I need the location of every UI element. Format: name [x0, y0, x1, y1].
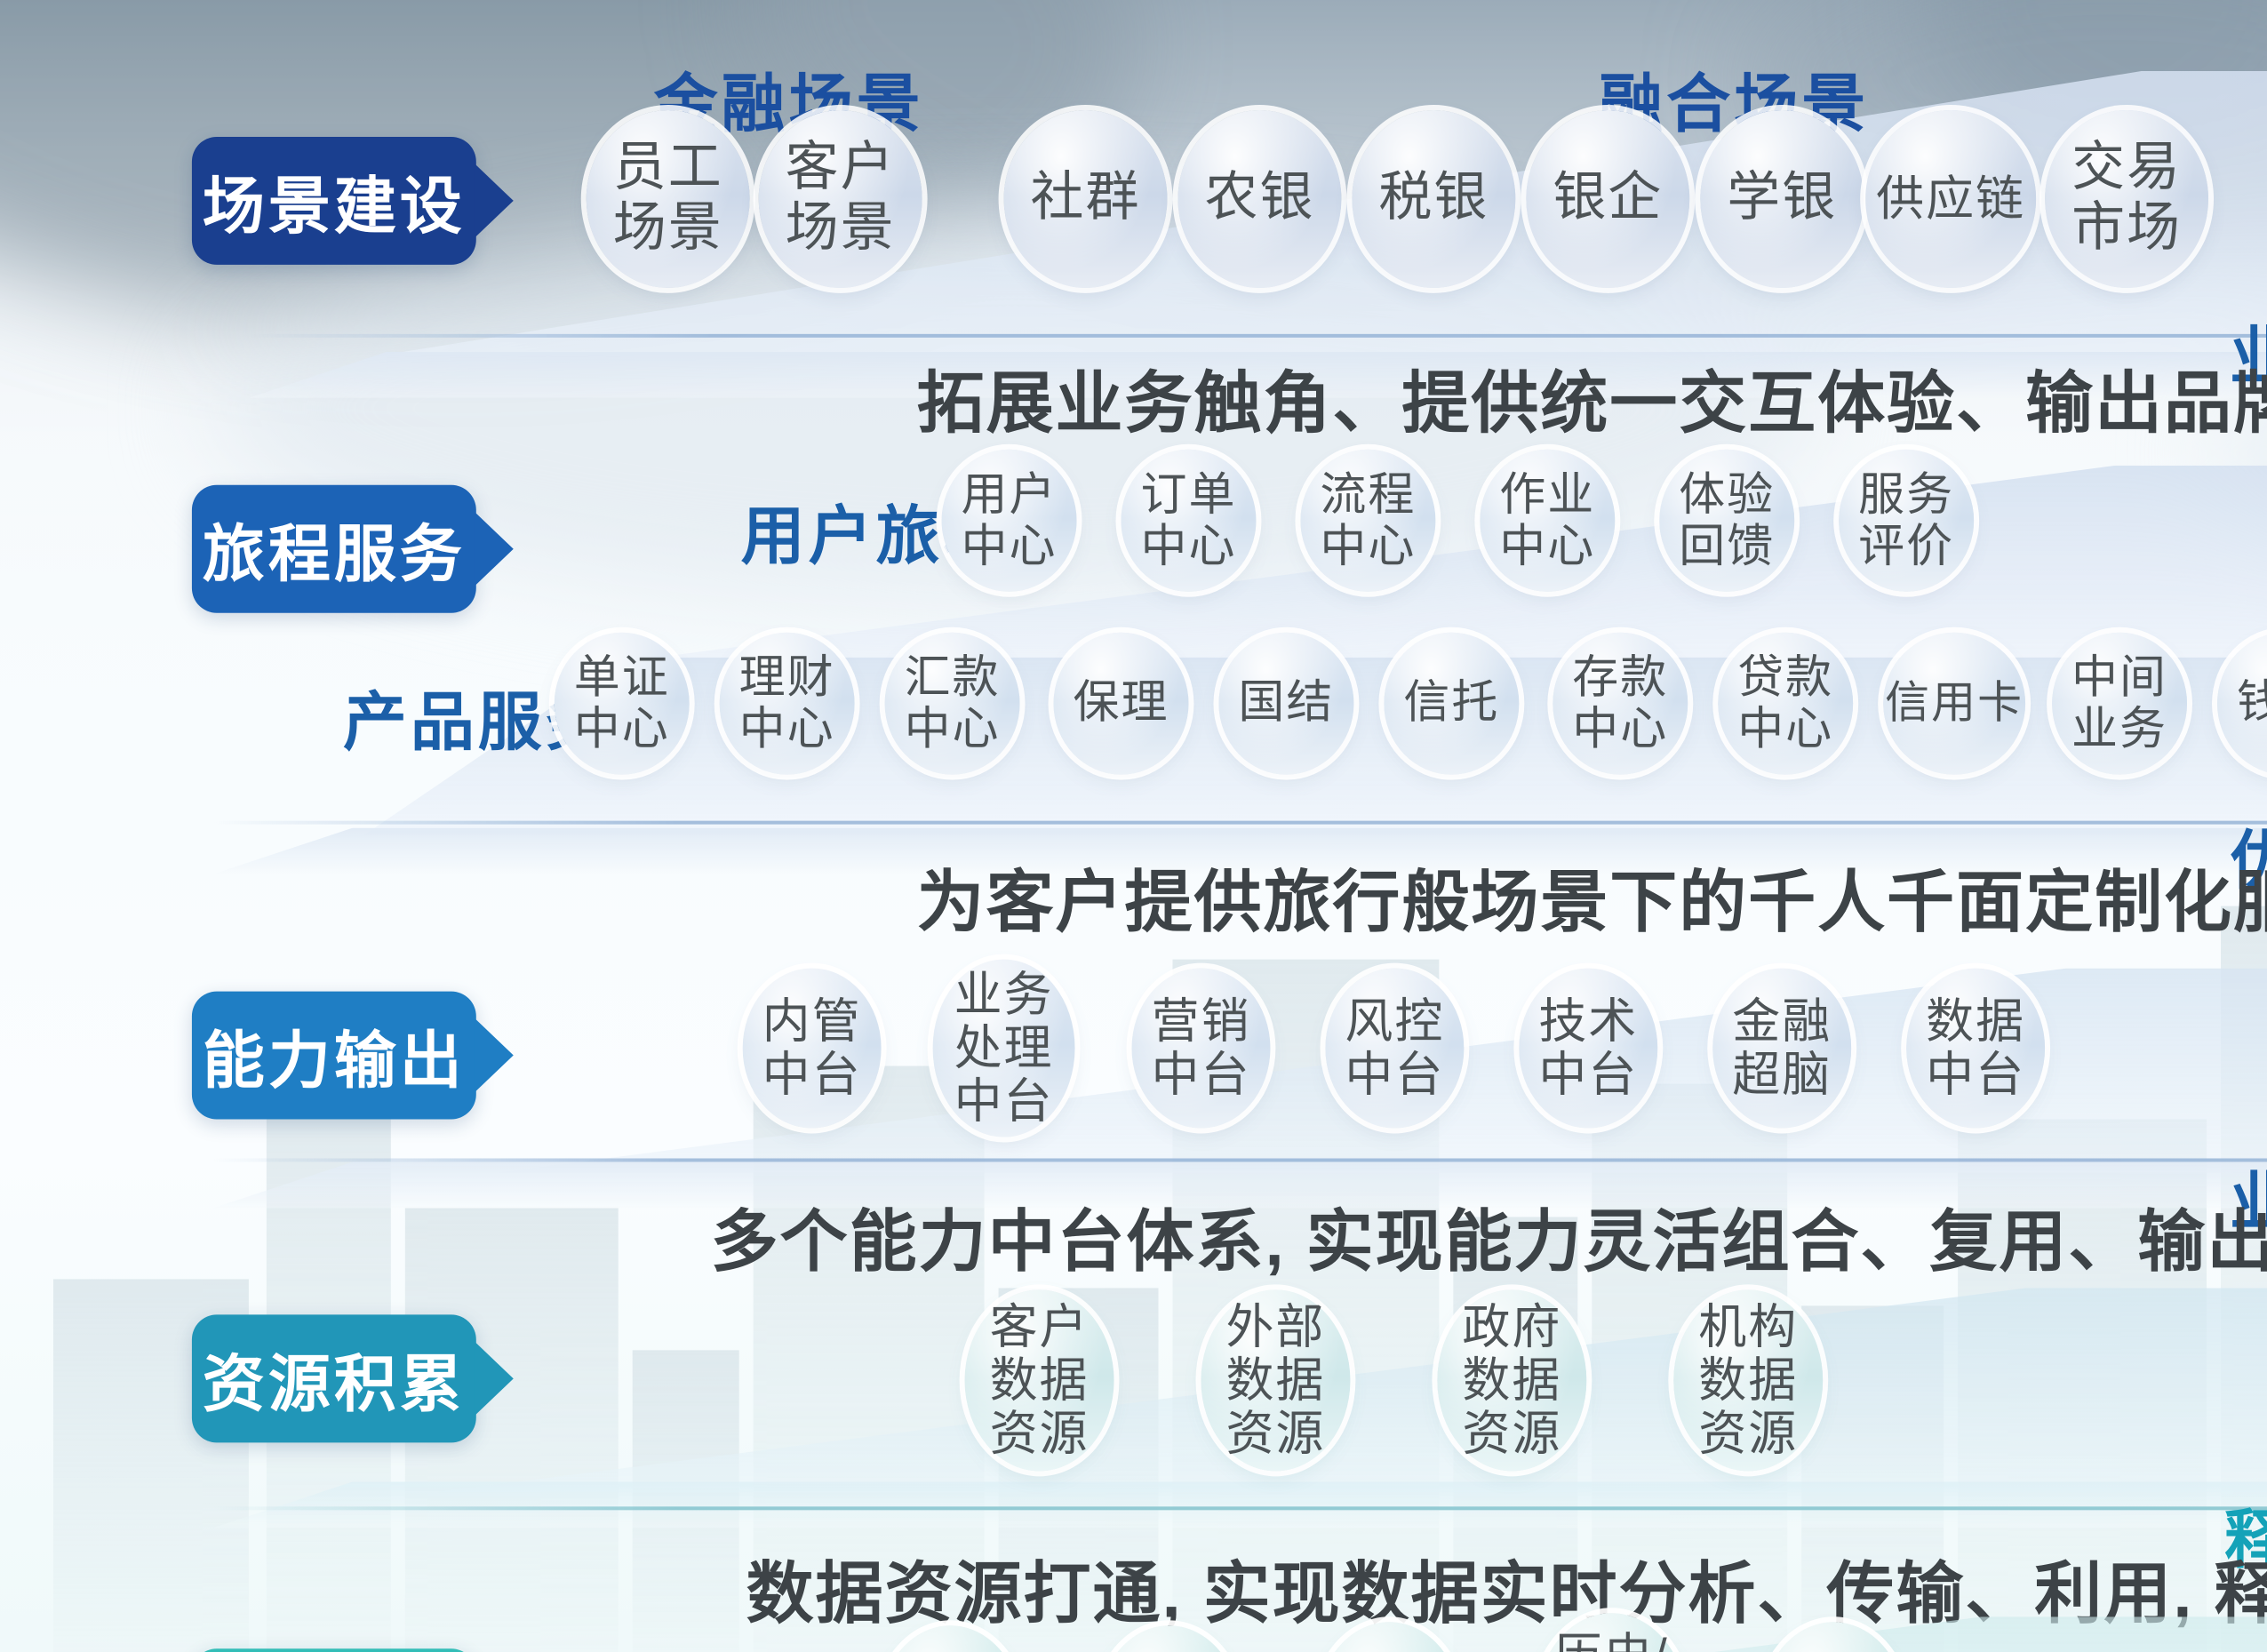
node-remittance-center[interactable]: 汇款 中心: [885, 633, 1020, 775]
band-rule-2: [213, 821, 2267, 825]
node-order-center[interactable]: 订单 中心: [1122, 450, 1257, 592]
node-line: 税银: [1378, 169, 1489, 228]
layer-chip-1-label: 场景建设: [203, 156, 466, 246]
node-line: 中台: [762, 1049, 862, 1102]
layer-chip-3-label: 能力输出: [203, 1010, 466, 1101]
node-tax-bank[interactable]: 税银: [1352, 110, 1515, 288]
node-line: 内管: [762, 994, 862, 1048]
node-line: 供应链: [1876, 172, 2025, 226]
node-line: 中心: [574, 704, 670, 755]
node-line: 金融: [1732, 994, 1832, 1048]
node-school-bank[interactable]: 学银: [1700, 110, 1864, 288]
node-customer-data-resource[interactable]: 客户 数据 资源: [965, 1289, 1114, 1471]
node-line: 政府: [1462, 1300, 1561, 1353]
node-operation-center[interactable]: 作业 中心: [1480, 450, 1615, 592]
node-community[interactable]: 社群: [1004, 110, 1168, 288]
band-rule-3: [213, 1158, 2267, 1161]
node-wallet[interactable]: 钱包: [2217, 633, 2267, 775]
node-line: 用户: [962, 469, 1058, 521]
node-line: 市场: [2071, 199, 2182, 259]
node-line: 社群: [1031, 169, 1141, 228]
node-line: 技术: [1538, 994, 1638, 1048]
node-line: 中台: [1151, 1049, 1250, 1102]
node-line: 流程: [1320, 469, 1416, 521]
node-line: 场景: [613, 199, 723, 259]
node-line: 场景: [786, 199, 896, 259]
band-rule-1: [249, 334, 2267, 338]
node-line: 数据: [1225, 1353, 1325, 1407]
layer-chip-3[interactable]: 能力输出: [192, 992, 476, 1120]
node-bank-enterprise[interactable]: 银企: [1526, 110, 1689, 288]
layer-chip-4[interactable]: 资源积累: [192, 1314, 476, 1442]
band-caption-2: 为客户提供旅行般场景下的千人千面定制化服务: [917, 848, 2267, 946]
node-line: 回馈: [1679, 521, 1775, 572]
node-line: 历史/: [1554, 1629, 1669, 1652]
chip-arrow-icon: [475, 512, 514, 587]
node-service-evaluation[interactable]: 服务 评价: [1839, 450, 1974, 592]
node-line: 中心: [739, 704, 835, 755]
node-line: 数据: [1698, 1353, 1798, 1407]
node-line: 外部: [1225, 1300, 1325, 1353]
node-trading-market[interactable]: 交易 市场: [2045, 110, 2208, 288]
node-line: 中心: [905, 704, 1001, 755]
node-customer-scene[interactable]: 客户 场景: [759, 110, 922, 288]
node-line: 业务: [2071, 704, 2167, 755]
pyramid-slab-4: [435, 1288, 2267, 1492]
node-line: 中台: [1926, 1049, 2025, 1102]
node-finance-brain[interactable]: 金融 超脑: [1712, 969, 1851, 1129]
node-internal-mgmt-platform[interactable]: 内管 中台: [743, 969, 882, 1129]
node-line: 中心: [1572, 704, 1668, 755]
layer-chip-2[interactable]: 旅程服务: [192, 485, 476, 613]
node-line: 营销: [1151, 994, 1250, 1048]
node-loan-center[interactable]: 贷款 中心: [1718, 633, 1853, 775]
band-caption-1: 拓展业务触角、提供统一交互体验、输出品牌形象: [917, 348, 2267, 446]
band-caption-4: 数据资源打通, 实现数据实时分析、传输、利用, 释放数据业务价值: [746, 1538, 2267, 1636]
node-external-data-resource[interactable]: 外部 数据 资源: [1201, 1289, 1350, 1471]
node-line: 员工: [613, 140, 723, 199]
node-line: 银企: [1553, 169, 1663, 228]
node-intermediary-business[interactable]: 中间 业务: [2052, 633, 2187, 775]
node-agri-bank[interactable]: 农银: [1177, 110, 1341, 288]
node-line: 中心: [1320, 521, 1416, 572]
node-line: 机构: [1698, 1300, 1798, 1353]
node-deposit-center[interactable]: 存款 中心: [1553, 633, 1688, 775]
node-line: 风控: [1345, 994, 1444, 1048]
layer-chip-5[interactable]: 组织管理: [192, 1648, 476, 1652]
node-line: 客户: [990, 1300, 1090, 1353]
node-line: 资源: [1462, 1408, 1561, 1461]
node-process-center[interactable]: 流程 中心: [1300, 450, 1435, 592]
layer-chip-1[interactable]: 场景建设: [192, 137, 476, 265]
node-user-center[interactable]: 用户 中心: [942, 450, 1077, 592]
node-line: 保理: [1073, 678, 1169, 730]
band-caption-3: 多个能力中台体系, 实现能力灵活组合、复用、输出, 支撑业务敏态创新: [711, 1186, 2267, 1284]
node-line: 数据: [1462, 1353, 1561, 1407]
node-line: 中台: [1345, 1049, 1444, 1102]
node-data-platform[interactable]: 数据 中台: [1906, 969, 2045, 1129]
node-line: 农银: [1204, 169, 1314, 228]
node-document-center[interactable]: 单证 中心: [555, 633, 690, 775]
node-line: 业务: [954, 968, 1054, 1021]
node-business-processing-platform[interactable]: 业务 处理 中台: [933, 960, 1075, 1137]
chip-arrow-icon: [475, 164, 514, 238]
node-line: 资源: [1225, 1408, 1325, 1461]
layer-chip-2-label: 旅程服务: [203, 504, 466, 595]
node-line: 信托: [1403, 678, 1499, 730]
node-line: 数据: [990, 1353, 1090, 1407]
node-line: 客户: [786, 140, 896, 199]
pyramid-slab-4-base: [213, 1481, 2267, 1528]
node-experience-feedback[interactable]: 体验 回馈: [1659, 450, 1794, 592]
node-line: 汇款: [905, 651, 1001, 703]
node-line: 信用卡: [1885, 679, 2024, 729]
node-line: 体验: [1679, 469, 1775, 521]
city-skyline-decoration: [0, 658, 2267, 1652]
node-line: 中台: [954, 1075, 1054, 1129]
node-line: 钱包: [2237, 678, 2267, 730]
node-line: 国结: [1238, 678, 1334, 730]
node-supply-chain[interactable]: 供应链: [1865, 110, 2036, 288]
chip-arrow-icon: [475, 1341, 514, 1416]
node-credit-card[interactable]: 信用卡: [1883, 633, 2025, 775]
node-factoring[interactable]: 保理: [1054, 633, 1189, 775]
band-rule-4: [213, 1506, 2267, 1510]
node-line: 单证: [574, 651, 670, 703]
layer-chip-4-label: 资源积累: [203, 1333, 466, 1424]
node-line: 处理: [954, 1021, 1054, 1074]
node-line: 订单: [1140, 469, 1236, 521]
node-line: 中心: [1140, 521, 1236, 572]
node-line: 评价: [1858, 521, 1954, 572]
node-line: 中心: [1499, 521, 1595, 572]
node-employee-scene[interactable]: 员工 场景: [587, 110, 750, 288]
node-marketing-platform[interactable]: 营销 中台: [1132, 969, 1271, 1129]
node-line: 贷款: [1737, 651, 1833, 703]
node-institution-data-resource[interactable]: 机构 数据 资源: [1673, 1289, 1823, 1471]
node-wealth-center[interactable]: 理财 中心: [720, 633, 855, 775]
node-line: 中间: [2071, 651, 2167, 703]
node-line: 中心: [962, 521, 1058, 572]
node-line: 中台: [1538, 1049, 1638, 1102]
node-intl-settlement[interactable]: 国结: [1218, 633, 1353, 775]
node-line: 资源: [1698, 1408, 1798, 1461]
node-government-data-resource[interactable]: 政府 数据 资源: [1437, 1289, 1586, 1471]
node-line: 存款: [1572, 651, 1668, 703]
diagram-canvas: 场景建设 金融场景 融合场景 员工 场景 客户 场景 社群 农银 税银 银企 学…: [0, 0, 2267, 1652]
node-tech-platform[interactable]: 技术 中台: [1519, 969, 1657, 1129]
node-line: 超脑: [1732, 1049, 1832, 1102]
node-risk-platform[interactable]: 风控 中台: [1325, 969, 1464, 1129]
node-line: 数据: [1926, 994, 2025, 1048]
node-line: 作业: [1499, 469, 1595, 521]
node-line: 理财: [739, 651, 835, 703]
node-line: 服务: [1858, 469, 1954, 521]
chip-arrow-icon: [475, 1018, 514, 1093]
cloud-decoration: [0, 0, 1137, 338]
node-line: 资源: [990, 1408, 1090, 1461]
node-line: 中心: [1737, 704, 1833, 755]
node-line: 交易: [2071, 140, 2182, 199]
node-trust[interactable]: 信托: [1384, 633, 1519, 775]
node-line: 学银: [1727, 169, 1837, 228]
